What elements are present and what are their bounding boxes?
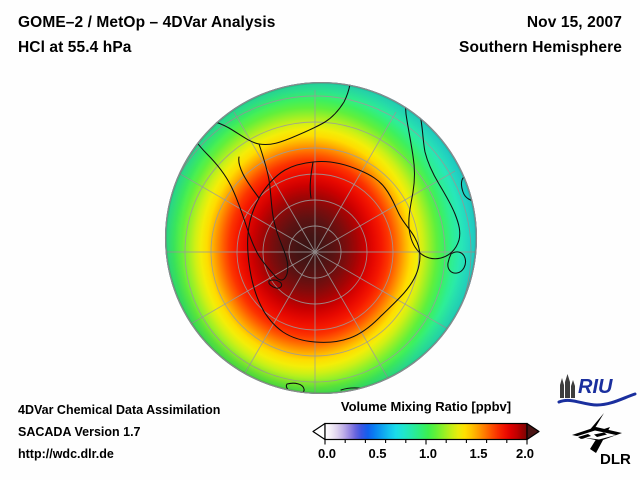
riu-logo-svg: RIU bbox=[557, 372, 637, 408]
hemisphere-label: Southern Hemisphere bbox=[459, 39, 622, 57]
page-title: GOME–2 / MetOp – 4DVar Analysis bbox=[18, 14, 276, 32]
colorbar-ticks bbox=[325, 440, 527, 445]
colorbar-over-arrow bbox=[527, 424, 539, 440]
date-label: Nov 15, 2007 bbox=[527, 14, 622, 32]
colorbar-gradient bbox=[325, 424, 527, 440]
footer-url-label[interactable]: http://wdc.dlr.de bbox=[18, 447, 114, 461]
colorbar-title: Volume Mixing Ratio [ppbv] bbox=[312, 399, 540, 414]
dlr-wordmark: DLR bbox=[600, 451, 631, 468]
colorbar-tick-1: 0.5 bbox=[368, 446, 386, 461]
figure-canvas: GOME–2 / MetOp – 4DVar Analysis HCl at 5… bbox=[0, 0, 640, 480]
colorbar-tick-0: 0.0 bbox=[318, 446, 336, 461]
riu-logo: RIU bbox=[557, 372, 637, 408]
footer-version-label: SACADA Version 1.7 bbox=[18, 425, 141, 439]
map-contents bbox=[163, 80, 479, 396]
colorbar-swatch bbox=[312, 421, 540, 445]
dlr-logo-svg: DLR bbox=[566, 411, 636, 471]
colorbar-tick-labels: 0.0 0.5 1.0 1.5 2.0 bbox=[312, 446, 540, 466]
riu-wordmark: RIU bbox=[578, 376, 613, 398]
subtitle-species-level: HCl at 55.4 hPa bbox=[18, 39, 132, 57]
colorbar-under-arrow bbox=[313, 424, 325, 440]
colorbar-tick-4: 2.0 bbox=[516, 446, 534, 461]
dlr-bird-icon bbox=[572, 413, 622, 453]
globe-map bbox=[163, 80, 479, 396]
footer-assimilation-label: 4DVar Chemical Data Assimilation bbox=[18, 403, 220, 417]
coastline-tasmania bbox=[477, 211, 479, 221]
dlr-logo: DLR bbox=[566, 411, 636, 471]
colorbar: Volume Mixing Ratio [ppbv] bbox=[312, 399, 540, 471]
colorbar-tick-3: 1.5 bbox=[469, 446, 487, 461]
limb-shading bbox=[165, 82, 477, 394]
colorbar-tick-2: 1.0 bbox=[419, 446, 437, 461]
orthographic-projection-svg bbox=[163, 80, 479, 396]
riu-tower-icon bbox=[560, 374, 575, 398]
